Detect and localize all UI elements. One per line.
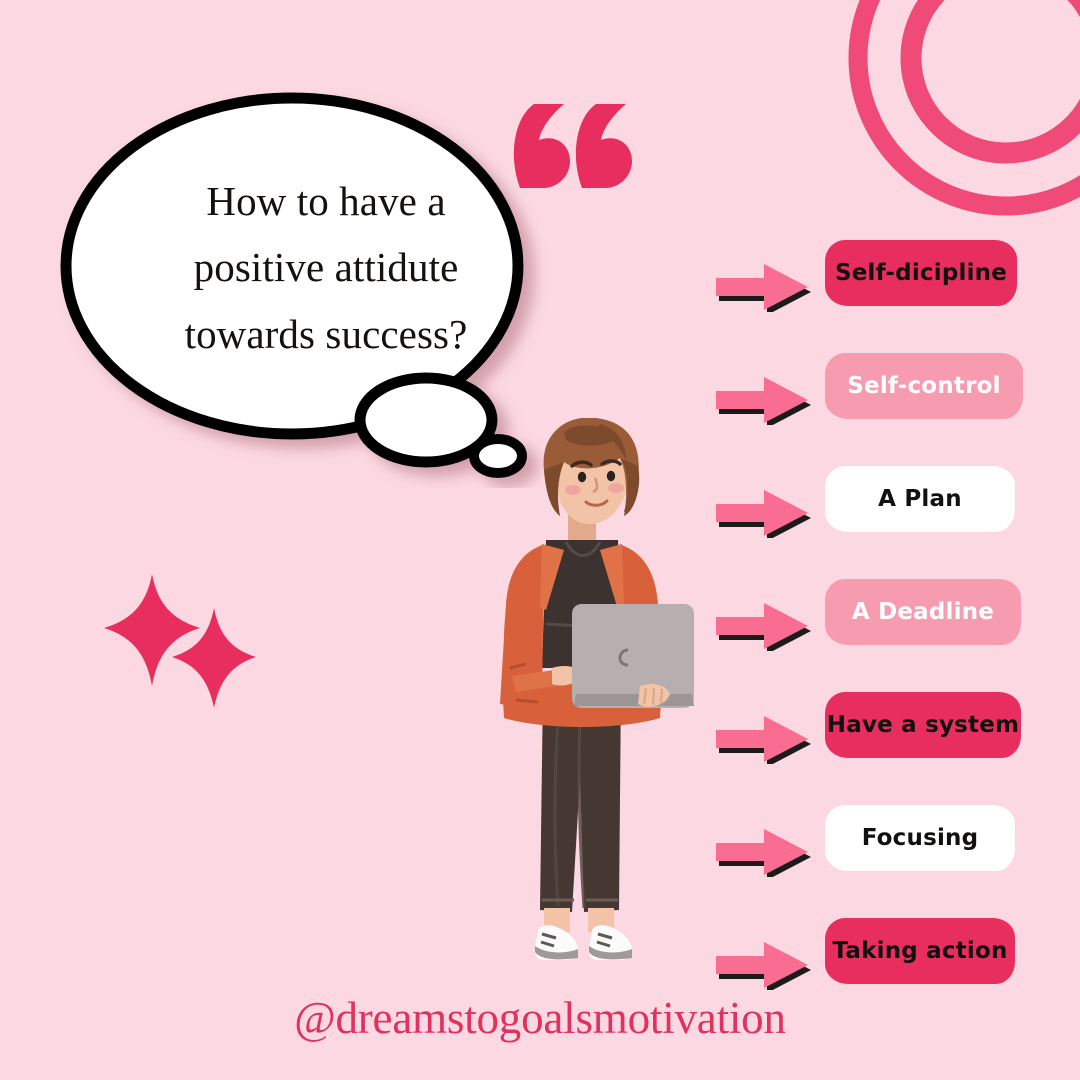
arrow-right-icon	[712, 712, 812, 764]
account-handle[interactable]: @dreamstogoalsmotivation	[0, 992, 1080, 1044]
arrow-right-icon	[712, 260, 812, 312]
bubble-line-3: towards success?	[130, 301, 522, 367]
bubble-line-2: positive attidute	[130, 234, 522, 300]
tip-row: Have a system	[712, 692, 1022, 805]
tip-pill[interactable]: A Plan	[825, 466, 1015, 532]
tips-list: Self-diciplineSelf-controlA PlanA Deadli…	[712, 240, 1022, 1031]
arrow-right-icon	[712, 599, 812, 651]
sparkle-icon	[104, 572, 268, 720]
tip-pill[interactable]: Focusing	[825, 805, 1015, 871]
tip-row: Self-control	[712, 353, 1022, 466]
tip-row: A Plan	[712, 466, 1022, 579]
arrow-right-icon	[712, 486, 812, 538]
concentric-circles-icon	[836, 0, 1080, 228]
woman-holding-laptop-illustration	[480, 418, 730, 988]
arrow-right-icon	[712, 938, 812, 990]
thought-bubble-text: How to have a positive attidute towards …	[130, 168, 522, 367]
bubble-line-1: How to have a	[130, 168, 522, 234]
poster-canvas: How to have a positive attidute towards …	[0, 0, 1080, 1080]
tip-pill[interactable]: Self-dicipline	[825, 240, 1017, 306]
arrow-right-icon	[712, 825, 812, 877]
arrow-right-icon	[712, 373, 812, 425]
tip-row: Focusing	[712, 805, 1022, 918]
tip-pill[interactable]: Taking action	[825, 918, 1015, 984]
tip-row: A Deadline	[712, 579, 1022, 692]
tip-pill[interactable]: Have a system	[825, 692, 1021, 758]
tip-pill[interactable]: A Deadline	[825, 579, 1021, 645]
tip-pill[interactable]: Self-control	[825, 353, 1023, 419]
tip-row: Self-dicipline	[712, 240, 1022, 353]
